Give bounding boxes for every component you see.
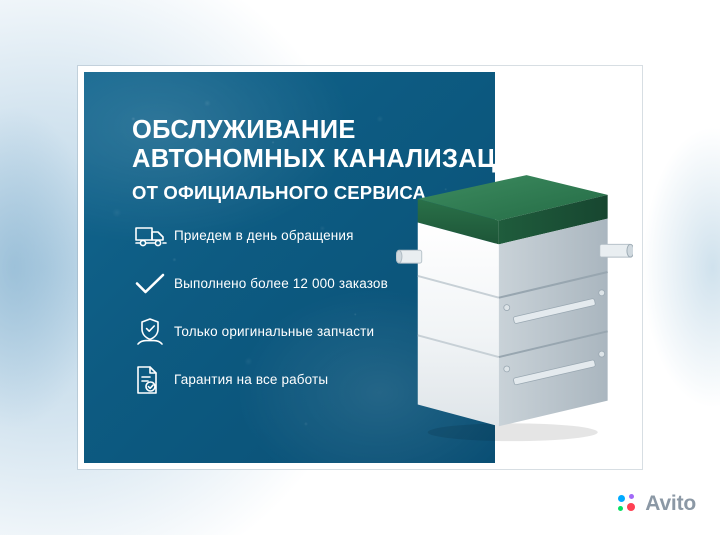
feature-label: Приедем в день обращения (174, 228, 354, 243)
listing-image: ОБСЛУЖИВАНИЕ АВТОНОМНЫХ КАНАЛИЗАЦИЙ ОТ О… (0, 0, 720, 535)
shield-hand-icon (134, 314, 174, 350)
truck-icon (134, 218, 174, 254)
promo-banner: ОБСЛУЖИВАНИЕ АВТОНОМНЫХ КАНАЛИЗАЦИЙ ОТ О… (78, 66, 642, 469)
feature-label: Выполнено более 12 000 заказов (174, 276, 388, 291)
feature-label: Только оригинальные запчасти (174, 324, 374, 339)
headline-line-1: ОБСЛУЖИВАНИЕ (132, 116, 562, 145)
checkmark-icon (134, 266, 174, 302)
avito-watermark: Avito (618, 492, 696, 516)
feature-label: Гарантия на все работы (174, 372, 328, 387)
document-check-icon (134, 362, 174, 398)
avito-logo-icon (618, 494, 638, 514)
septic-tank-illustration (396, 158, 633, 447)
avito-wordmark: Avito (645, 492, 696, 516)
banner-inner: ОБСЛУЖИВАНИЕ АВТОНОМНЫХ КАНАЛИЗАЦИЙ ОТ О… (84, 72, 636, 463)
